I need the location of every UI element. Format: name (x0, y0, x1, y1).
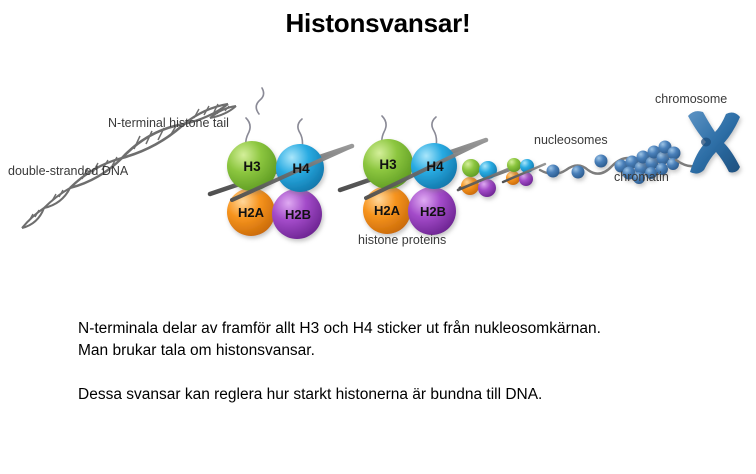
label-nucleosomes: nucleosomes (534, 133, 608, 147)
nucleosome-octamer-2: H3 H4 H2A H2B (340, 116, 486, 235)
label-chromosome: chromosome (655, 92, 727, 106)
nucleosome-bead (595, 155, 608, 168)
n-terminal-tail-icon (256, 88, 263, 114)
slide-body-text: N-terminala delar av framför allt H3 och… (78, 318, 718, 406)
histone-label-h2b: H2B (420, 204, 446, 219)
page-title: Histonsvansar! (0, 8, 756, 39)
body-paragraph-2: Dessa svansar kan reglera hur starkt his… (78, 384, 718, 406)
histone-label-h2b: H2B (285, 207, 311, 222)
label-double-stranded-dna: double-stranded DNA (8, 164, 128, 178)
nucleosome-octamer-4-small (503, 158, 545, 186)
histone-label-h3: H3 (379, 157, 397, 172)
label-chromatin: chromatin (614, 170, 669, 184)
nucleosome-bead (547, 165, 560, 178)
paragraph-spacer (78, 362, 718, 384)
body-paragraph-1-line-1: N-terminala delar av framför allt H3 och… (78, 318, 718, 340)
nucleosome-octamer-1: H3 H4 H2A H2B (210, 118, 352, 239)
chromatin-packaging-figure: H3 H4 H2A H2B H3 H4 H2A H2B (0, 78, 756, 273)
histone-label-h4: H4 (292, 161, 310, 176)
label-n-terminal-histone-tail: N-terminal histone tail (108, 116, 229, 130)
nucleosome-bead (572, 166, 585, 179)
body-paragraph-1-line-2: Man brukar tala om histonsvansar. (78, 340, 718, 362)
histone-label-h4: H4 (426, 159, 444, 174)
histone-label-h3: H3 (243, 159, 261, 174)
slide-canvas: Histonsvansar! (0, 0, 756, 474)
label-histone-proteins: histone proteins (358, 233, 446, 247)
histone-label-h2a: H2A (238, 205, 265, 220)
histone-label-h2a: H2A (374, 203, 401, 218)
chromosome-icon (688, 111, 740, 174)
